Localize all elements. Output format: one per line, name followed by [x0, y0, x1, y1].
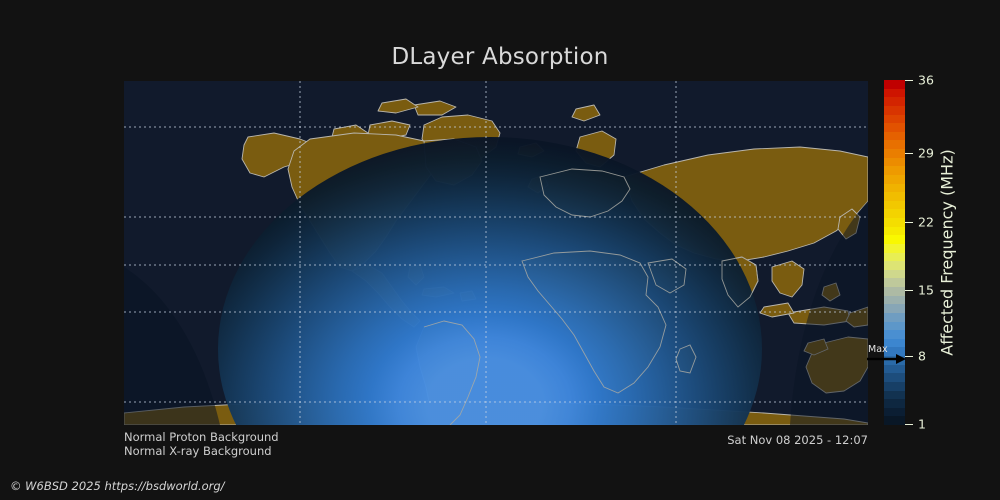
colorbar-segment — [884, 373, 905, 382]
colorbar-segment — [884, 416, 905, 425]
colorbar-tick — [905, 153, 913, 154]
colorbar-segment — [884, 97, 905, 106]
colorbar-tick — [905, 424, 913, 425]
colorbar-segment — [884, 270, 905, 279]
colorbar-tick-label: 29 — [918, 146, 934, 161]
colorbar-segment — [884, 149, 905, 158]
timestamp: Sat Nov 08 2025 - 12:07 — [727, 433, 868, 447]
colorbar-segment — [884, 209, 905, 218]
colorbar-tick-label: 36 — [918, 73, 934, 88]
colorbar-tick-label: 15 — [918, 283, 934, 298]
colorbar-tick — [905, 356, 913, 357]
xray-background-note: Normal X-ray Background — [124, 444, 272, 458]
colorbar[interactable] — [884, 80, 905, 425]
colorbar-segment — [884, 158, 905, 167]
colorbar-segment — [884, 287, 905, 296]
colorbar-tick — [905, 290, 913, 291]
colorbar-segment — [884, 304, 905, 313]
colorbar-segment — [884, 192, 905, 201]
colorbar-title: Affected Frequency (MHz) — [936, 80, 958, 425]
colorbar-segment — [884, 218, 905, 227]
colorbar-segment — [884, 253, 905, 262]
colorbar-max-marker: Max — [866, 344, 906, 366]
colorbar-segment — [884, 106, 905, 115]
colorbar-segment — [884, 175, 905, 184]
colorbar-segment — [884, 115, 905, 124]
colorbar-segment — [884, 382, 905, 391]
page-title: DLayer Absorption — [0, 44, 1000, 70]
colorbar-segment — [884, 322, 905, 331]
colorbar-title-text: Affected Frequency (MHz) — [938, 149, 957, 355]
dlayer-absorption-screen: DLayer Absorption — [0, 0, 1000, 500]
colorbar-segment — [884, 399, 905, 408]
colorbar-segment — [884, 330, 905, 339]
colorbar-segment — [884, 244, 905, 253]
colorbar-tick-label: 8 — [918, 349, 926, 364]
colorbar-segment — [884, 313, 905, 322]
colorbar-segment — [884, 184, 905, 193]
colorbar-segment — [884, 261, 905, 270]
colorbar-segment — [884, 278, 905, 287]
colorbar-tick — [905, 80, 913, 81]
colorbar-segment — [884, 89, 905, 98]
colorbar-segment — [884, 140, 905, 149]
colorbar-tick-label: 22 — [918, 215, 934, 230]
map-canvas — [124, 81, 868, 425]
colorbar-tick — [905, 222, 913, 223]
credit-line: © W6BSD 2025 https://bsdworld.org/ — [10, 479, 225, 493]
world-map[interactable] — [124, 81, 868, 425]
colorbar-segment — [884, 227, 905, 236]
colorbar-segment — [884, 166, 905, 175]
colorbar-segment — [884, 80, 905, 89]
colorbar-segment — [884, 408, 905, 417]
colorbar-segment — [884, 132, 905, 141]
colorbar-segment — [884, 201, 905, 210]
arrow-right-icon — [866, 353, 906, 365]
colorbar-tick-label: 1 — [918, 417, 926, 432]
colorbar-segment — [884, 391, 905, 400]
colorbar-segment — [884, 123, 905, 132]
colorbar-segment — [884, 296, 905, 305]
proton-background-note: Normal Proton Background — [124, 430, 279, 444]
colorbar-segment — [884, 235, 905, 244]
